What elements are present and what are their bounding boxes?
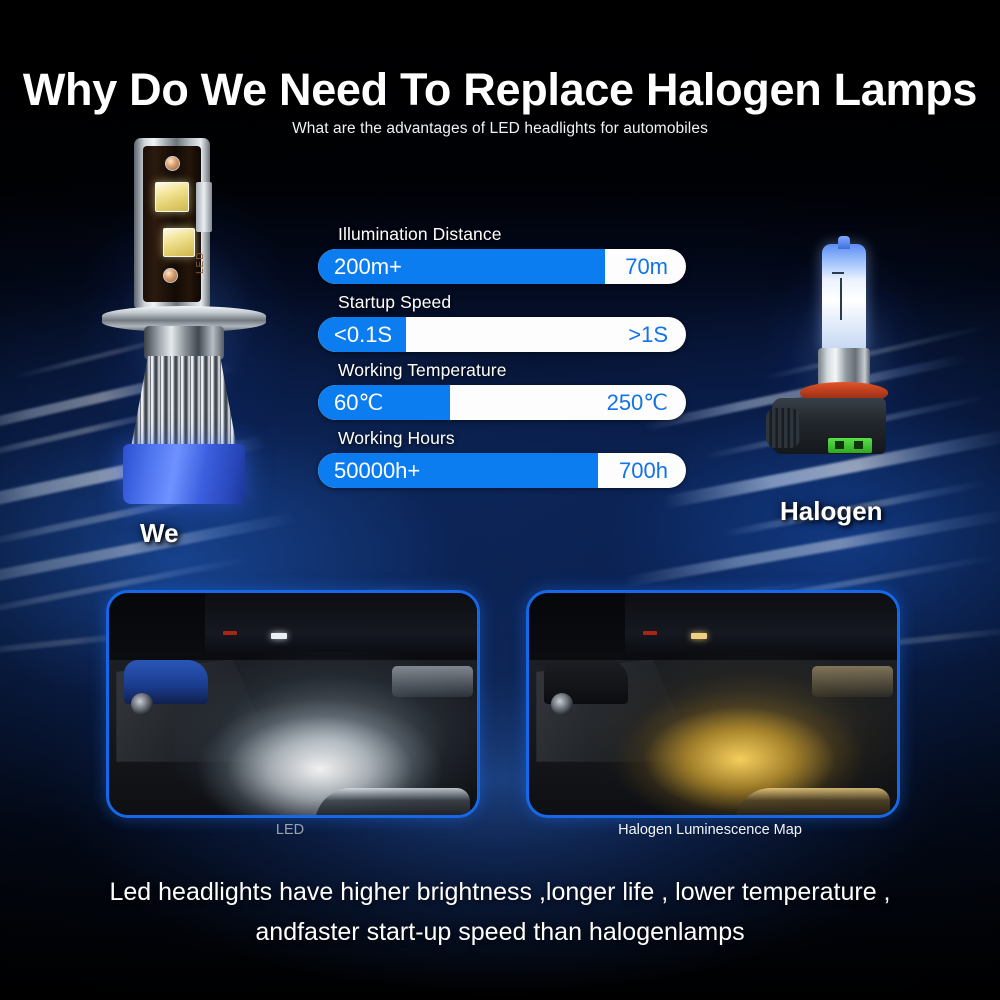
comparison-led-value: 50000h+	[334, 453, 420, 488]
photo-taillight	[223, 631, 237, 635]
photo-snowbank	[392, 666, 473, 697]
halogen-filament-support	[832, 272, 844, 274]
led-bulb-pcb: LED	[143, 146, 201, 302]
led-bulb-image: LED	[96, 138, 276, 498]
photo-buildings	[205, 593, 477, 655]
summary-line-1: Led headlights have higher brightness ,l…	[40, 872, 960, 912]
photo-car-wheel	[551, 693, 573, 715]
comparison-led-value: 60℃	[334, 385, 383, 420]
comparison-row: Startup Speed <0.1S >1S	[318, 292, 686, 352]
comparison-row-label: Working Hours	[338, 428, 686, 449]
led-night-photo	[106, 590, 480, 818]
photo-distant-light	[691, 633, 707, 639]
led-blue-base	[123, 444, 245, 504]
led-neck	[144, 326, 224, 360]
halogen-filament	[840, 278, 842, 320]
led-brand-text: LED	[195, 252, 206, 274]
summary-caption: Led headlights have higher brightness ,l…	[40, 872, 960, 952]
comparison-row: Working Temperature 60℃ 250℃	[318, 360, 686, 420]
halogen-bulb-image	[760, 230, 920, 492]
comparison-halogen-value: 250℃	[607, 385, 668, 420]
photo-car-hood	[315, 788, 470, 818]
halogen-cable-boot	[766, 408, 800, 448]
led-chip-icon	[155, 182, 189, 212]
comparison-bar: <0.1S >1S	[318, 317, 686, 352]
halogen-blue-tip	[838, 236, 850, 249]
comparison-bar: 200m+ 70m	[318, 249, 686, 284]
halogen-glass-envelope	[822, 244, 866, 352]
comparison-led-value: <0.1S	[334, 317, 392, 352]
comparison-row: Illumination Distance 200m+ 70m	[318, 224, 686, 284]
halogen-night-photo	[526, 590, 900, 818]
photo-car-hood	[735, 788, 890, 818]
comparison-panel: Illumination Distance 200m+ 70m Startup …	[318, 224, 686, 496]
photo-buildings	[625, 593, 897, 655]
comparison-row-label: Startup Speed	[338, 292, 686, 313]
halogen-product-label: Halogen	[780, 496, 883, 527]
comparison-halogen-value: 70m	[625, 249, 668, 284]
comparison-halogen-value: 700h	[619, 453, 668, 488]
summary-line-2: andfaster start-up speed than halogenlam…	[40, 912, 960, 952]
photo-car-wheel	[131, 693, 153, 715]
led-photo-caption: LED	[106, 822, 474, 838]
comparison-bar: 50000h+ 700h	[318, 453, 686, 488]
halogen-metal-base	[818, 348, 870, 386]
halogen-photo-scene	[529, 593, 897, 815]
led-heatsink-fins	[131, 356, 237, 448]
comparison-row: Working Hours 50000h+ 700h	[318, 428, 686, 488]
comparison-halogen-value: >1S	[628, 317, 668, 352]
photo-distant-light	[271, 633, 287, 639]
comparison-row-label: Working Temperature	[338, 360, 686, 381]
comparison-bar: 60℃ 250℃	[318, 385, 686, 420]
led-screw-icon	[165, 156, 180, 171]
led-photo-scene	[109, 593, 477, 815]
led-chip-icon	[163, 228, 195, 257]
led-product-label: We	[140, 518, 179, 549]
comparison-row-label: Illumination Distance	[338, 224, 686, 245]
photo-snowbank	[812, 666, 893, 697]
photo-taillight	[643, 631, 657, 635]
comparison-led-value: 200m+	[334, 249, 402, 284]
halogen-green-clip	[828, 438, 872, 453]
infographic-root: Why Do We Need To Replace Halogen Lamps …	[0, 0, 1000, 1000]
halogen-photo-caption: Halogen Luminescence Map	[526, 822, 894, 838]
led-side-tab	[196, 182, 212, 232]
led-screw-icon	[163, 268, 178, 283]
